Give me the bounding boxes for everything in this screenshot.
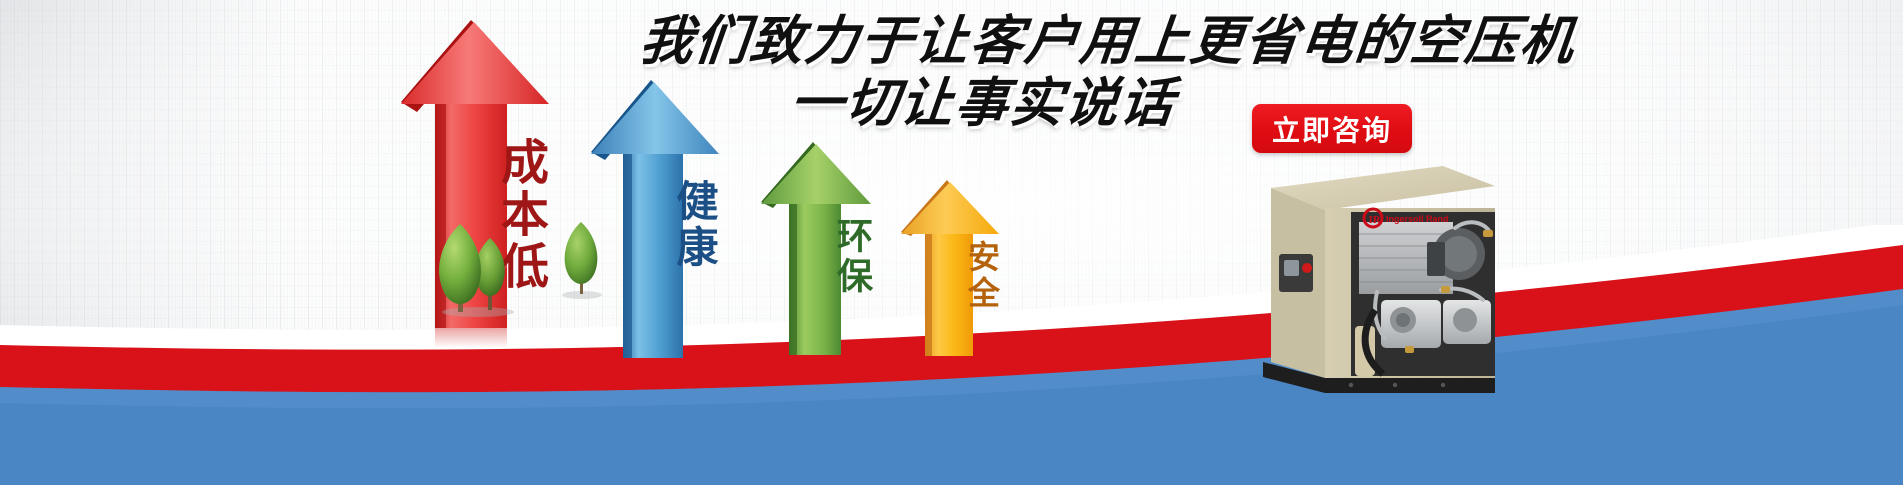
compressor-control-screen <box>1284 260 1299 276</box>
tree-icon-group-small <box>556 218 608 300</box>
arrow-safety-label: 安全 <box>895 220 1005 332</box>
consult-now-button[interactable]: 立即咨询 <box>1252 104 1412 153</box>
arrow-environment: 环保 <box>755 140 877 355</box>
tree-shadow <box>442 307 514 317</box>
compressor-airend-2-flange <box>1453 308 1477 332</box>
arrow-safety: 安全 <box>895 178 1005 356</box>
compressor-motor-face <box>1441 236 1477 272</box>
svg-text:IR: IR <box>1369 214 1382 226</box>
compressor-brand-label: Ingersoll Rand <box>1386 214 1449 224</box>
tree-canopy-front <box>439 224 481 304</box>
arrow-cost-reflection <box>435 328 507 348</box>
promo-banner: 安全 环保 <box>0 0 1903 485</box>
tree-canopy <box>565 222 598 284</box>
arrow-environment-label: 环保 <box>755 192 877 322</box>
compressor-airend-flange-2 <box>1396 313 1410 327</box>
tree-icon-group-large <box>432 222 524 318</box>
compressor-emergency-stop <box>1302 263 1312 273</box>
compressor-motor-mount <box>1427 242 1445 276</box>
compressor-icon: IR Ingersoll Rand <box>1255 150 1500 395</box>
